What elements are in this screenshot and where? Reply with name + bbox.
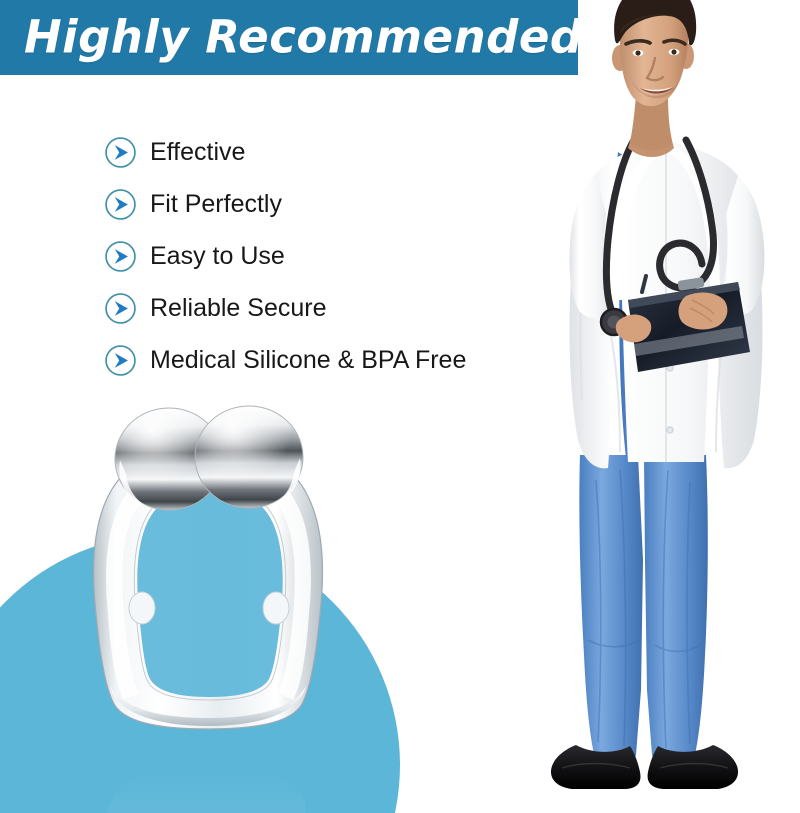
feature-item: Medical Silicone & BPA Free (104, 334, 534, 386)
feature-label: Medical Silicone & BPA Free (150, 348, 466, 373)
doctor-illustration (510, 0, 800, 813)
chevron-right-circle-icon (104, 240, 137, 273)
hand-right (679, 293, 728, 330)
feature-item: Effective (104, 126, 534, 178)
nose-clip-illustration (0, 400, 420, 813)
feature-label: Easy to Use (150, 244, 285, 269)
coat-button (667, 427, 673, 433)
chevron-right-circle-icon (104, 344, 137, 377)
banner-title: Highly Recommended (24, 10, 578, 63)
feature-item: Reliable Secure (104, 282, 534, 334)
chevron-right-circle-icon (104, 188, 137, 221)
feature-label: Fit Perfectly (150, 192, 282, 217)
doctor-image (510, 0, 800, 813)
feature-list: Effective Fit Perfectly Easy to Use Reli… (104, 126, 534, 386)
feature-item: Easy to Use (104, 230, 534, 282)
feature-label: Reliable Secure (150, 296, 327, 321)
chevron-right-circle-icon (104, 292, 137, 325)
feature-item: Fit Perfectly (104, 178, 534, 230)
product-advertisement: Highly Recommended Effective Fit Perfect… (0, 0, 800, 813)
header-banner: Highly Recommended (0, 0, 578, 75)
scrub-pants-right (644, 455, 708, 765)
scrub-pants-left (579, 455, 643, 765)
feature-label: Effective (150, 140, 245, 165)
chevron-right-circle-icon (104, 136, 137, 169)
product-image (0, 400, 420, 813)
